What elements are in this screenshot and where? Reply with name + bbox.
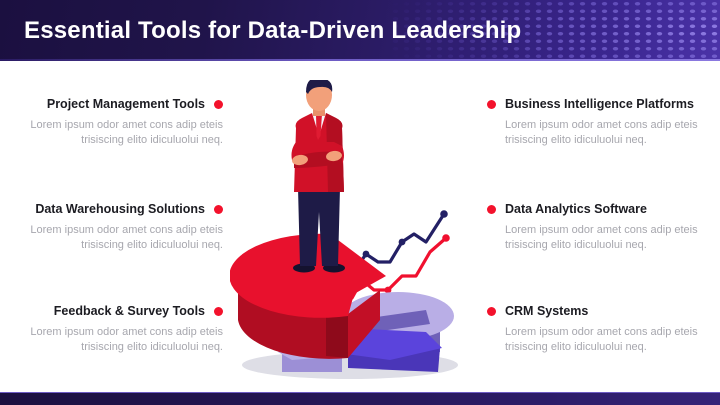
slide: Essential Tools for Data-Driven Leadersh… <box>0 0 720 405</box>
list-item-business-intelligence-platforms[interactable]: Business Intelligence Platforms Lorem ip… <box>487 96 702 148</box>
item-title: Data Analytics Software <box>505 202 647 216</box>
list-item-data-warehousing-solutions[interactable]: Data Warehousing Solutions Lorem ipsum o… <box>8 201 223 253</box>
item-description: Lorem ipsum odor amet cons adip eteis tr… <box>505 223 702 253</box>
item-title: Data Warehousing Solutions <box>35 202 205 216</box>
item-description: Lorem ipsum odor amet cons adip eteis tr… <box>8 118 223 148</box>
item-title: CRM Systems <box>505 304 588 318</box>
navy-line-marker <box>399 239 406 246</box>
central-illustration <box>230 80 490 380</box>
red-line-marker <box>442 234 450 242</box>
pie-chart-3d <box>230 234 454 372</box>
businessman-on-pie-chart-illustration-icon <box>230 80 490 380</box>
item-title: Business Intelligence Platforms <box>505 97 694 111</box>
item-heading-row: Feedback & Survey Tools <box>8 303 223 319</box>
slide-footer-bar <box>0 393 720 405</box>
navy-line-marker <box>440 210 448 218</box>
header-underline <box>0 59 720 61</box>
item-title: Feedback & Survey Tools <box>54 304 205 318</box>
item-heading-row: Data Warehousing Solutions <box>8 201 223 217</box>
red-dot-icon <box>214 205 223 214</box>
item-heading-row: Data Analytics Software <box>487 201 702 217</box>
slide-header: Essential Tools for Data-Driven Leadersh… <box>0 0 720 61</box>
list-item-data-analytics-software[interactable]: Data Analytics Software Lorem ipsum odor… <box>487 201 702 253</box>
item-description: Lorem ipsum odor amet cons adip eteis tr… <box>505 118 702 148</box>
item-heading-row: Business Intelligence Platforms <box>487 96 702 112</box>
list-item-feedback-survey-tools[interactable]: Feedback & Survey Tools Lorem ipsum odor… <box>8 303 223 355</box>
item-description: Lorem ipsum odor amet cons adip eteis tr… <box>505 325 702 355</box>
red-slice-side-inner <box>326 312 348 358</box>
item-heading-row: CRM Systems <box>487 303 702 319</box>
list-item-crm-systems[interactable]: CRM Systems Lorem ipsum odor amet cons a… <box>487 303 702 355</box>
item-heading-row: Project Management Tools <box>8 96 223 112</box>
list-item-project-management-tools[interactable]: Project Management Tools Lorem ipsum odo… <box>8 96 223 148</box>
red-dot-icon <box>214 307 223 316</box>
red-dot-icon <box>214 100 223 109</box>
page-title: Essential Tools for Data-Driven Leadersh… <box>24 17 521 45</box>
item-description: Lorem ipsum odor amet cons adip eteis tr… <box>8 223 223 253</box>
item-description: Lorem ipsum odor amet cons adip eteis tr… <box>8 325 223 355</box>
item-title: Project Management Tools <box>47 97 205 111</box>
